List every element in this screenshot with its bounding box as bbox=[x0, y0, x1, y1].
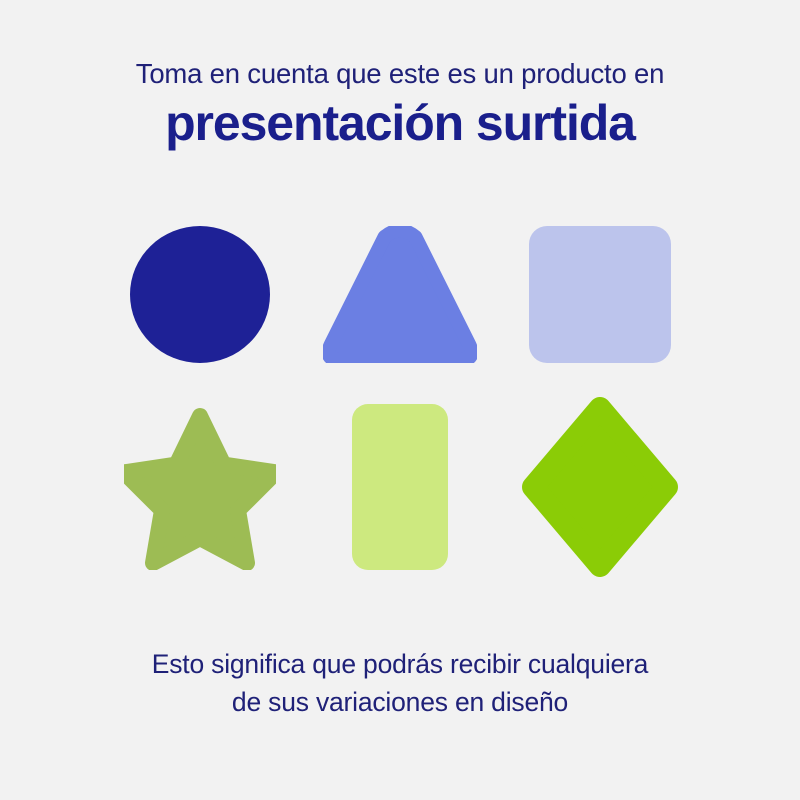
shape-cell-triangle bbox=[300, 199, 500, 389]
poster-canvas: Toma en cuenta que este es un producto e… bbox=[0, 0, 800, 800]
shape-cell-star bbox=[100, 389, 300, 584]
square-shape bbox=[529, 226, 671, 363]
footer-block: Esto significa que podrás recibir cualqu… bbox=[70, 646, 730, 721]
shape-cell-circle bbox=[100, 199, 300, 389]
diamond-shape bbox=[521, 396, 679, 578]
star-shape bbox=[124, 404, 276, 570]
headline-block: Toma en cuenta que este es un producto e… bbox=[50, 58, 750, 151]
shapes-grid bbox=[100, 199, 700, 584]
shape-cell-rectangle bbox=[300, 389, 500, 584]
footer-line-2: de sus variaciones en diseño bbox=[70, 684, 730, 722]
rectangle-shape bbox=[352, 404, 448, 570]
circle-shape bbox=[130, 226, 270, 363]
shape-cell-square bbox=[500, 199, 700, 389]
headline-line-1: Toma en cuenta que este es un producto e… bbox=[50, 58, 750, 90]
triangle-shape bbox=[323, 226, 477, 363]
footer-line-1: Esto significa que podrás recibir cualqu… bbox=[70, 646, 730, 684]
headline-line-2: presentación surtida bbox=[50, 96, 750, 151]
shape-cell-diamond bbox=[500, 389, 700, 584]
